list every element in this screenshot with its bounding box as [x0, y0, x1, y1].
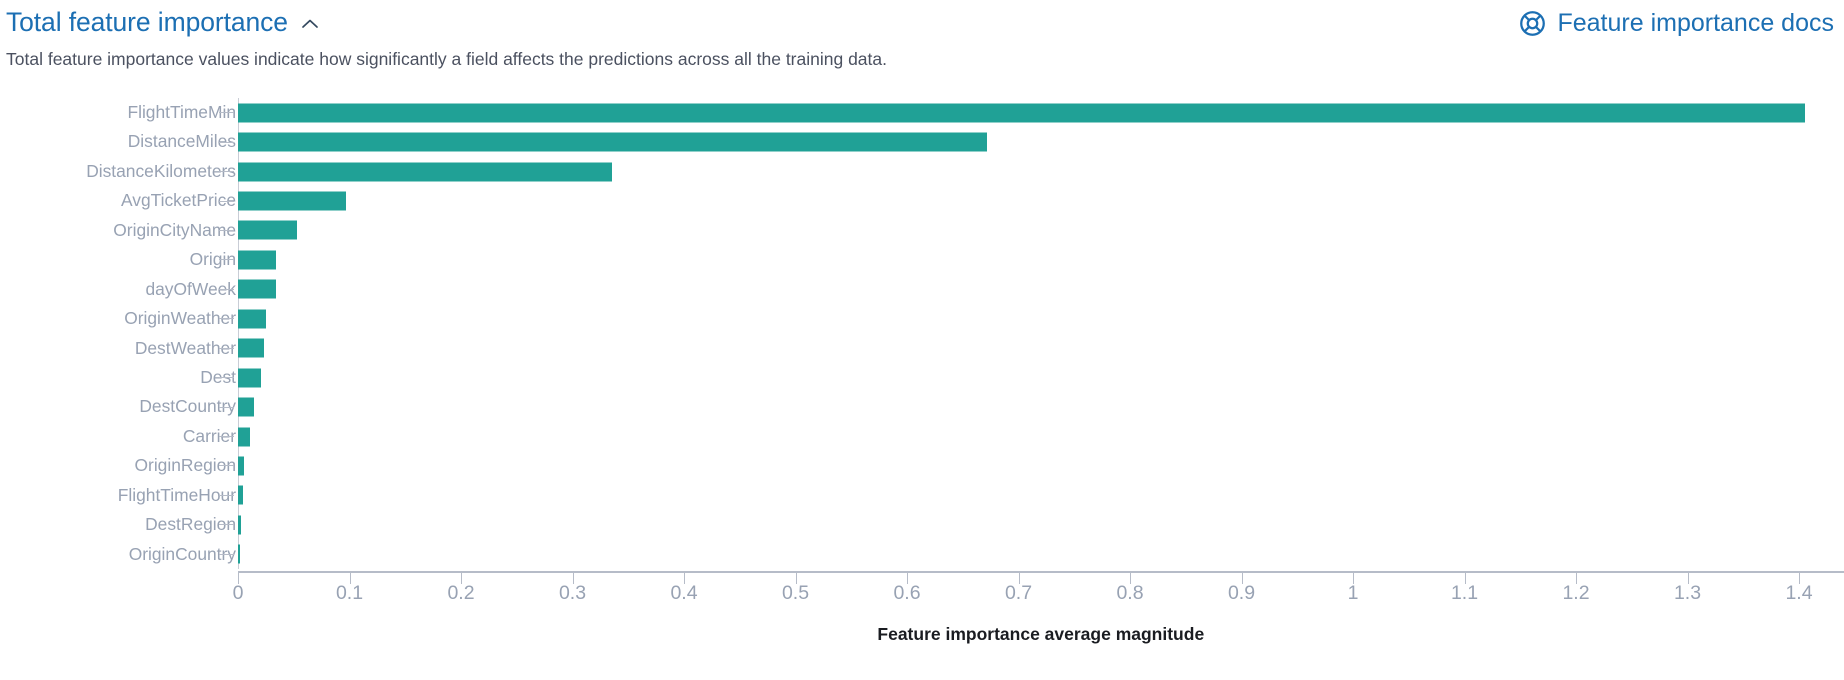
bar[interactable]: [238, 515, 241, 534]
bar-category-label: OriginRegion: [0, 457, 236, 474]
x-axis-tick-label: 0: [233, 584, 244, 604]
x-axis-tick-label: 0.2: [447, 584, 474, 604]
bar-category-label: DestCountry: [0, 398, 236, 415]
bar-category-label: DistanceKilometers: [0, 163, 236, 180]
bar-row[interactable]: DestWeather: [0, 334, 1844, 363]
y-axis-tick: [219, 142, 234, 143]
x-axis-tick-label: 1.3: [1674, 584, 1701, 604]
y-axis-tick: [219, 554, 234, 555]
bar[interactable]: [238, 486, 243, 505]
bar[interactable]: [238, 545, 240, 564]
x-axis-tick-label: 0.4: [670, 584, 697, 604]
bar[interactable]: [238, 221, 297, 240]
x-axis-tick-label: 0.5: [782, 584, 809, 604]
y-axis-tick: [219, 377, 234, 378]
y-axis-tick: [219, 318, 234, 319]
chevron-up-icon[interactable]: [299, 13, 321, 35]
x-axis-tick-label: 1.4: [1785, 584, 1812, 604]
feature-importance-bar-chart: FlightTimeMinDistanceMilesDistanceKilome…: [0, 98, 1844, 680]
bar-category-label: AvgTicketPrice: [0, 192, 236, 209]
docs-link-label: Feature importance docs: [1557, 9, 1834, 38]
y-axis-tick: [219, 230, 234, 231]
y-axis-tick: [219, 465, 234, 466]
x-axis-tick-label: 0.3: [559, 584, 586, 604]
bar[interactable]: [238, 133, 987, 152]
x-axis-title: Feature importance average magnitude: [877, 626, 1204, 644]
x-axis-tick-label: 0.7: [1005, 584, 1032, 604]
bar-category-label: Dest: [0, 369, 236, 386]
bar-row[interactable]: AvgTicketPrice: [0, 186, 1844, 215]
bar-row[interactable]: Carrier: [0, 422, 1844, 451]
bar-category-label: DestRegion: [0, 516, 236, 533]
bar-row[interactable]: DestCountry: [0, 392, 1844, 421]
x-axis-tick-label: 0.1: [336, 584, 363, 604]
bar-category-label: FlightTimeMin: [0, 104, 236, 121]
bar-row[interactable]: DestRegion: [0, 510, 1844, 539]
bar-row[interactable]: OriginWeather: [0, 304, 1844, 333]
panel-title-toggle[interactable]: Total feature importance: [6, 8, 321, 37]
bar-category-label: dayOfWeek: [0, 281, 236, 298]
x-axis-tick-label: 0.6: [893, 584, 920, 604]
bar-row[interactable]: dayOfWeek: [0, 275, 1844, 304]
bar[interactable]: [238, 427, 250, 446]
x-axis-tick-label: 1.1: [1451, 584, 1478, 604]
feature-importance-docs-link[interactable]: Feature importance docs: [1519, 9, 1836, 38]
bar-list: FlightTimeMinDistanceMilesDistanceKilome…: [0, 98, 1844, 569]
bar-row[interactable]: DistanceKilometers: [0, 157, 1844, 186]
bar-category-label: OriginWeather: [0, 310, 236, 327]
x-axis-tick-label: 0.9: [1228, 584, 1255, 604]
bar[interactable]: [238, 192, 346, 211]
y-axis-tick: [219, 201, 234, 202]
bar-category-label: DistanceMiles: [0, 133, 236, 150]
bar-row[interactable]: OriginRegion: [0, 451, 1844, 480]
bar[interactable]: [238, 103, 1805, 122]
x-axis-tick-label: 1.2: [1562, 584, 1589, 604]
bar-row[interactable]: FlightTimeMin: [0, 98, 1844, 127]
bar[interactable]: [238, 398, 254, 417]
y-axis-tick: [219, 112, 234, 113]
y-axis-tick: [219, 171, 234, 172]
page-title: Total feature importance: [6, 8, 288, 37]
x-axis-tick-label: 1: [1348, 584, 1359, 604]
bar[interactable]: [238, 162, 612, 181]
y-axis-tick: [219, 524, 234, 525]
panel-header: Total feature importance Feature importa…: [0, 0, 1844, 46]
bar-row[interactable]: OriginCityName: [0, 216, 1844, 245]
bar[interactable]: [238, 250, 276, 269]
bar-row[interactable]: FlightTimeHour: [0, 481, 1844, 510]
bar-row[interactable]: Dest: [0, 363, 1844, 392]
bar[interactable]: [238, 456, 244, 475]
y-axis-tick: [219, 259, 234, 260]
bar-category-label: DestWeather: [0, 340, 236, 357]
bar-category-label: Origin: [0, 251, 236, 268]
bar[interactable]: [238, 309, 266, 328]
bar-row[interactable]: DistanceMiles: [0, 127, 1844, 156]
y-axis-tick: [219, 348, 234, 349]
bar-category-label: FlightTimeHour: [0, 487, 236, 504]
help-lifebuoy-icon: [1519, 10, 1546, 37]
bar[interactable]: [238, 280, 276, 299]
y-axis-tick: [219, 436, 234, 437]
x-axis-tick-label: 0.8: [1116, 584, 1143, 604]
bar[interactable]: [238, 339, 264, 358]
bar-row[interactable]: OriginCountry: [0, 540, 1844, 569]
x-axis-line: [238, 571, 1844, 572]
bar-row[interactable]: Origin: [0, 245, 1844, 274]
y-axis-tick: [219, 289, 234, 290]
bar[interactable]: [238, 368, 261, 387]
bar-category-label: OriginCityName: [0, 222, 236, 239]
y-axis-tick: [219, 495, 234, 496]
y-axis-tick: [219, 407, 234, 408]
bar-category-label: OriginCountry: [0, 546, 236, 563]
panel-description: Total feature importance values indicate…: [6, 47, 887, 72]
bar-category-label: Carrier: [0, 428, 236, 445]
total-feature-importance-panel: Total feature importance Feature importa…: [0, 0, 1844, 680]
